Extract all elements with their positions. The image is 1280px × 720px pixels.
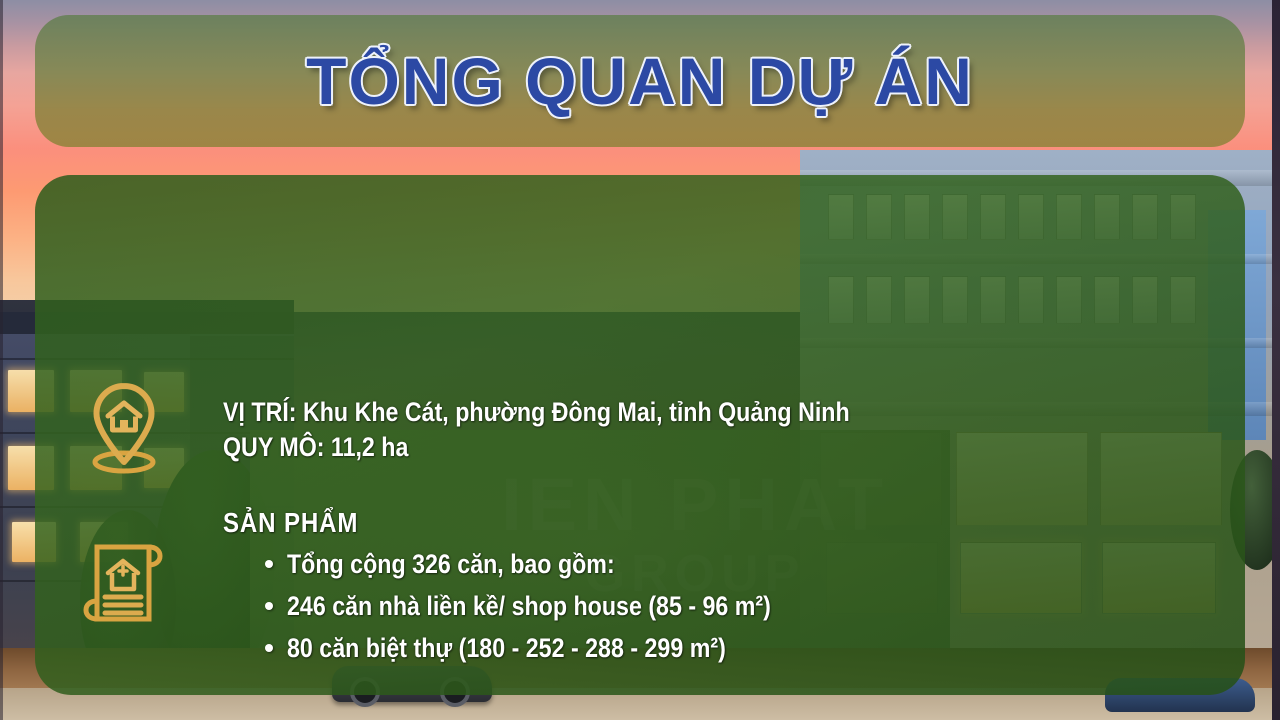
location-line: VỊ TRÍ: Khu Khe Cát, phường Đông Mai, tỉ… bbox=[223, 397, 850, 428]
property-deed-scroll-icon bbox=[81, 533, 167, 638]
right-edge-strip bbox=[1272, 0, 1280, 720]
scale-line: QUY MÔ: 11,2 ha bbox=[223, 432, 408, 463]
left-edge-strip bbox=[0, 0, 3, 720]
list-item: Tổng cộng 326 căn, bao gồm: bbox=[253, 543, 850, 585]
slide-root: IEN PHAT GROUP TỔNG QUAN DỰ ÁN bbox=[0, 0, 1280, 720]
icon-column bbox=[35, 175, 210, 695]
products-list: Tổng cộng 326 căn, bao gồm: 246 căn nhà … bbox=[253, 543, 850, 669]
products-heading: SẢN PHẨM bbox=[223, 507, 358, 539]
page-title: TỔNG QUAN DỰ ÁN bbox=[35, 15, 1245, 147]
overview-panel: VỊ TRÍ: Khu Khe Cát, phường Đông Mai, tỉ… bbox=[35, 175, 1245, 695]
product-item-0: Tổng cộng 326 căn, bao gồm: bbox=[287, 543, 615, 585]
content-column: VỊ TRÍ: Khu Khe Cát, phường Đông Mai, tỉ… bbox=[223, 175, 1245, 695]
location-pin-house-icon bbox=[81, 378, 167, 479]
product-item-1: 246 căn nhà liền kề/ shop house (85 - 96… bbox=[287, 585, 771, 627]
list-item: 80 căn biệt thự (180 - 252 - 288 - 299 m… bbox=[253, 627, 850, 669]
list-item: 246 căn nhà liền kề/ shop house (85 - 96… bbox=[253, 585, 850, 627]
header-banner: TỔNG QUAN DỰ ÁN bbox=[35, 15, 1245, 147]
product-item-2: 80 căn biệt thự (180 - 252 - 288 - 299 m… bbox=[287, 627, 726, 669]
